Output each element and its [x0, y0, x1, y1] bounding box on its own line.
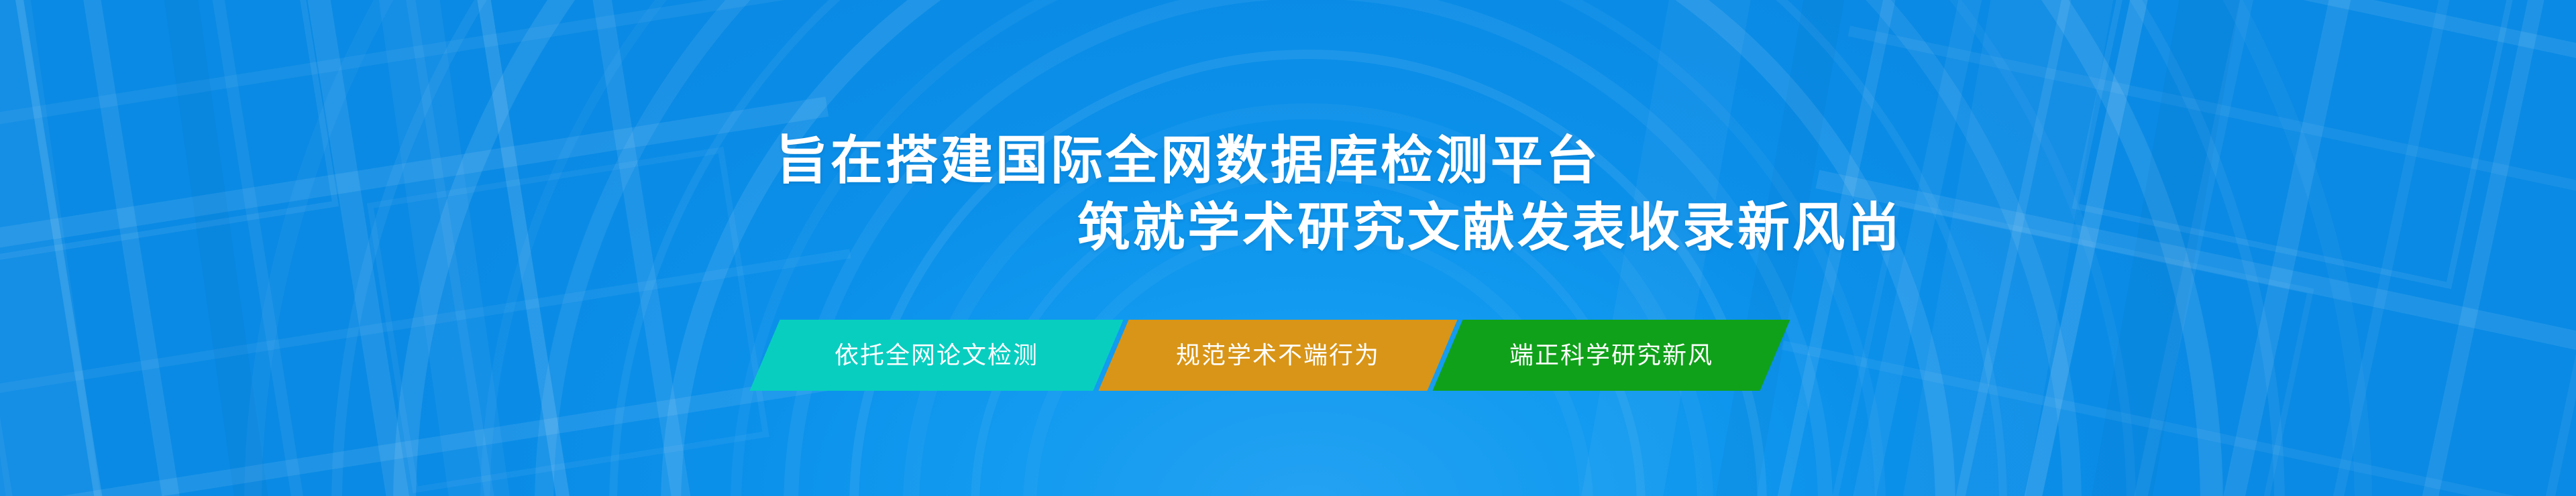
feature-tag-ribbon: 依托全网论文检测 规范学术不端行为 端正科学研究新风 [765, 320, 1775, 391]
feature-tag-2[interactable]: 端正科学研究新风 [1433, 320, 1790, 391]
headline-line-2: 筑就学术研究文献发表收录新风尚 [1077, 201, 1902, 253]
feature-tag-1[interactable]: 规范学术不端行为 [1099, 320, 1458, 391]
promo-banner: 旨在搭建国际全网数据库检测平台 筑就学术研究文献发表收录新风尚 依托全网论文检测… [0, 0, 2576, 496]
headline-line-1: 旨在搭建国际全网数据库检测平台 [775, 134, 1601, 186]
feature-tag-2-label: 端正科学研究新风 [1509, 343, 1713, 367]
feature-tag-0-label: 依托全网论文检测 [835, 343, 1038, 367]
background-grid-left [0, 0, 898, 496]
feature-tag-1-label: 规范学术不端行为 [1176, 343, 1380, 367]
feature-tag-0[interactable]: 依托全网论文检测 [750, 320, 1124, 391]
